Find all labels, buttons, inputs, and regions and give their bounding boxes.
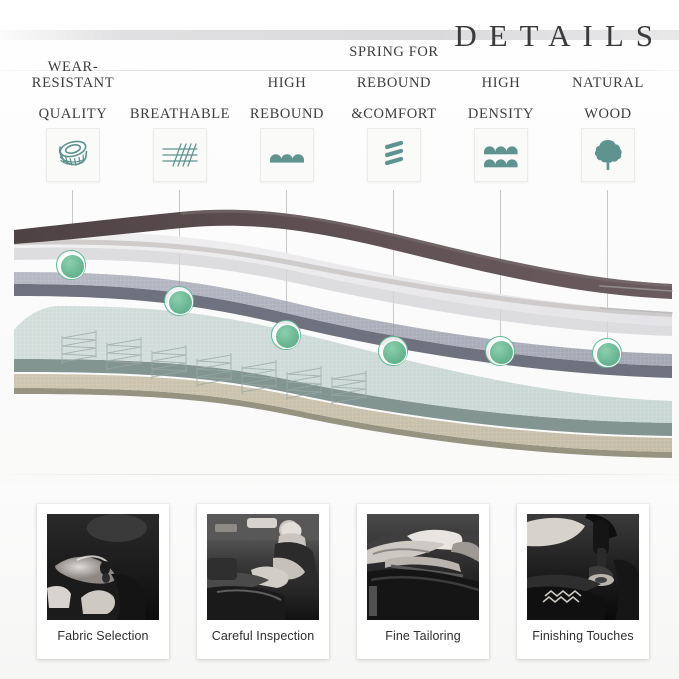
layer-marker-high-density[interactable] (485, 336, 515, 366)
feature-icon-tile (367, 128, 421, 182)
feature-breathable: BREATHABLE (121, 76, 239, 182)
feature-row: WEAR-RESISTANT QUALITY (0, 76, 679, 196)
card-photo (527, 514, 639, 620)
feature-label-line: WOOD (549, 107, 667, 123)
tree-icon (591, 137, 625, 173)
process-card[interactable]: Fine Tailoring (357, 504, 489, 659)
feature-high-rebound: HIGH REBOUND (228, 76, 346, 182)
mattress-layer-cross-section (0, 196, 679, 474)
layer-marker-natural-wood[interactable] (592, 338, 622, 368)
marker-dot (168, 290, 193, 315)
feature-label-line: QUALITY (14, 107, 132, 123)
feature-label: NATURAL WOOD (549, 76, 667, 122)
feature-label-line: NATURAL (549, 76, 667, 92)
feature-label-line: DENSITY (442, 107, 560, 123)
card-photo (367, 514, 479, 620)
sewing-machine-stitching-photo (527, 514, 639, 620)
hands-cutting-material-photo (367, 514, 479, 620)
product-detail-infographic: DETAILS WEAR-RESISTANT QUALITY (0, 0, 679, 679)
feature-label: HIGH REBOUND (228, 76, 346, 122)
process-card[interactable]: Careful Inspection (197, 504, 329, 659)
fabric-roll-mesh-icon (54, 138, 92, 172)
feature-wear-resistant-quality: WEAR-RESISTANT QUALITY (14, 76, 132, 182)
process-card[interactable]: Finishing Touches (517, 504, 649, 659)
feature-label-line: HIGH (228, 76, 346, 92)
process-card[interactable]: Fabric Selection (37, 504, 169, 659)
process-card-row: Fabric Selection (0, 484, 679, 679)
layer-marker-breathable[interactable] (164, 286, 194, 316)
feature-label-line: REBOUND (228, 107, 346, 123)
feature-label-line: REBOUND (335, 76, 453, 92)
feature-natural-wood: NATURAL WOOD (549, 76, 667, 182)
page-title: DETAILS (442, 18, 665, 54)
card-caption: Finishing Touches (517, 629, 649, 643)
card-photo (207, 514, 319, 620)
feature-label: WEAR-RESISTANT QUALITY (14, 76, 132, 122)
layer-marker-spring-for-rebound-comfort[interactable] (378, 336, 408, 366)
hands-selecting-leather-photo (47, 514, 159, 620)
feature-label: HIGH DENSITY (442, 76, 560, 122)
feature-label-line: HIGH (442, 76, 560, 92)
feature-label-line: SPRING FOR (335, 45, 453, 61)
layer-marker-wear-resistant-quality[interactable] (56, 250, 86, 280)
worker-inspecting-fabric-photo (207, 514, 319, 620)
feature-high-density: HIGH DENSITY (442, 76, 560, 182)
six-domes-density-icon (481, 138, 521, 172)
marker-dot (60, 254, 85, 279)
three-domes-icon (267, 142, 307, 168)
card-caption: Fine Tailoring (357, 629, 489, 643)
marker-dot (382, 340, 407, 365)
feature-icon-tile (46, 128, 100, 182)
feature-spring-for-rebound-comfort: SPRING FOR REBOUND &COMFORT (335, 76, 453, 182)
feature-label-line: WEAR-RESISTANT (14, 60, 132, 91)
feature-icon-tile (474, 128, 528, 182)
marker-dot (489, 340, 514, 365)
feature-icon-tile (153, 128, 207, 182)
card-photo (47, 514, 159, 620)
feature-label-line: &COMFORT (335, 107, 453, 123)
layer-marker-high-rebound[interactable] (271, 320, 301, 350)
woven-mesh-lines-icon (160, 139, 200, 171)
feature-icon-tile (581, 128, 635, 182)
feature-icon-tile (260, 128, 314, 182)
feature-label-line: BREATHABLE (121, 107, 239, 123)
card-caption: Careful Inspection (197, 629, 329, 643)
layer-wear-resistant-cover (14, 210, 672, 317)
card-caption: Fabric Selection (37, 629, 169, 643)
section-divider (0, 474, 679, 475)
feature-label: BREATHABLE (121, 76, 239, 122)
marker-dot (275, 324, 300, 349)
feature-label: SPRING FOR REBOUND &COMFORT (335, 76, 453, 122)
spring-coil-bars-icon (378, 138, 410, 172)
marker-dot (596, 342, 621, 367)
